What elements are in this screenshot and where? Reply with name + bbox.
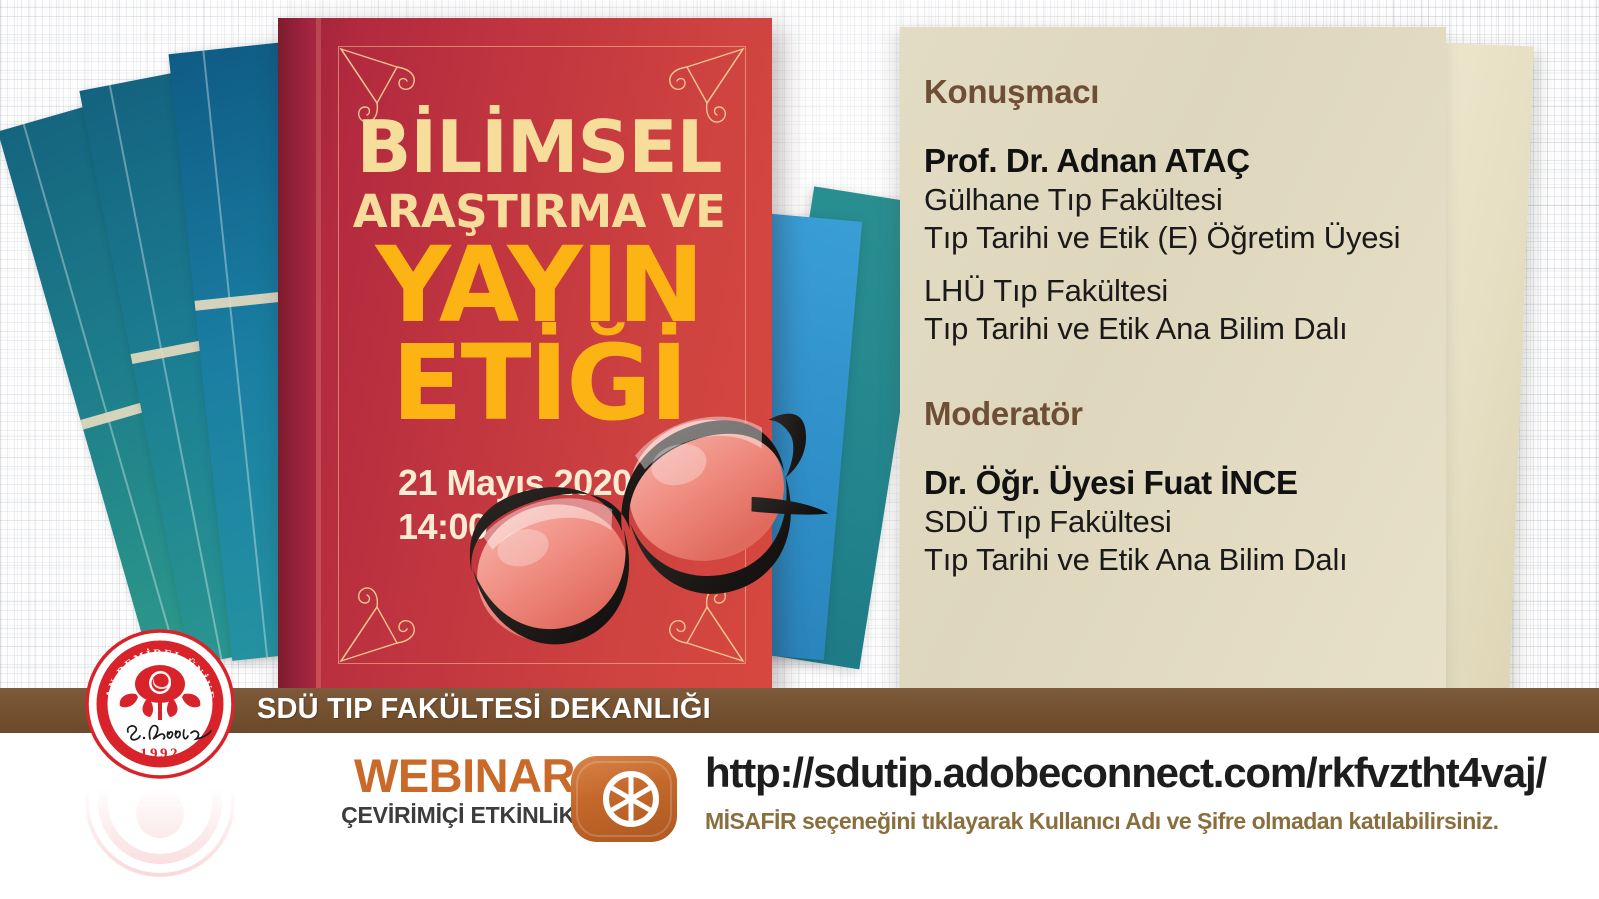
speaker-name: Prof. Dr. Adnan ATAÇ bbox=[924, 142, 1426, 181]
webinar-title: WEBINAR bbox=[325, 752, 575, 799]
speaker-affiliation-1-line-1: Gülhane Tıp Fakültesi bbox=[924, 181, 1426, 219]
speaker-heading: Konuşmacı bbox=[924, 75, 1426, 108]
organizer-bar bbox=[0, 688, 1599, 733]
book-spine bbox=[278, 18, 316, 690]
organizer-bar-label: SDÜ TIP FAKÜLTESİ DEKANLIĞI bbox=[257, 693, 711, 726]
university-seal: SÜLEYMAN DEMİREL ÜNİVERSİTESİ bbox=[84, 628, 236, 780]
speaker-affiliation-1-line-2: Tıp Tarihi ve Etik (E) Öğretim Üyesi bbox=[924, 219, 1426, 257]
title-line-1: BİLİMSEL bbox=[340, 114, 738, 182]
eyeglasses-icon bbox=[425, 400, 845, 650]
book-title-group: BİLİMSEL ARAŞTIRMA VE YAYIN ETİĞİ bbox=[340, 114, 738, 430]
speaker-info-panel: Konuşmacı Prof. Dr. Adnan ATAÇ Gülhane T… bbox=[900, 27, 1446, 697]
book-spine-highlight bbox=[316, 18, 321, 690]
seal-year: 1992 bbox=[140, 746, 180, 762]
moderator-affiliation-line-1: SDÜ Tıp Fakültesi bbox=[924, 503, 1426, 541]
webinar-poster: BİLİMSEL ARAŞTIRMA VE YAYIN ETİĞİ 21 May… bbox=[0, 0, 1599, 899]
speaker-affiliation-2-line-2: Tıp Tarihi ve Etik Ana Bilim Dalı bbox=[924, 310, 1426, 348]
moderator-affiliation-line-2: Tıp Tarihi ve Etik Ana Bilim Dalı bbox=[924, 541, 1426, 579]
university-seal-reflection bbox=[84, 782, 236, 878]
ornament-corner-icon bbox=[337, 573, 429, 665]
webinar-url[interactable]: http://sdutip.adobeconnect.com/rkfvztht4… bbox=[705, 752, 1546, 794]
moderator-name: Dr. Öğr. Üyesi Fuat İNCE bbox=[924, 464, 1426, 503]
webinar-subtitle: ÇEVİRİMİÇİ ETKİNLİK bbox=[325, 804, 575, 827]
speaker-affiliation-2-line-1: LHÜ Tıp Fakültesi bbox=[924, 272, 1426, 310]
title-line-3: YAYIN bbox=[340, 239, 738, 333]
webinar-url-note: MİSAFİR seçeneğini tıklayarak Kullanıcı … bbox=[705, 810, 1499, 833]
webinar-label-group: WEBINAR ÇEVİRİMİÇİ ETKİNLİK bbox=[325, 752, 575, 827]
moderator-heading: Moderatör bbox=[924, 397, 1426, 430]
online-broadcast-icon bbox=[568, 753, 680, 845]
